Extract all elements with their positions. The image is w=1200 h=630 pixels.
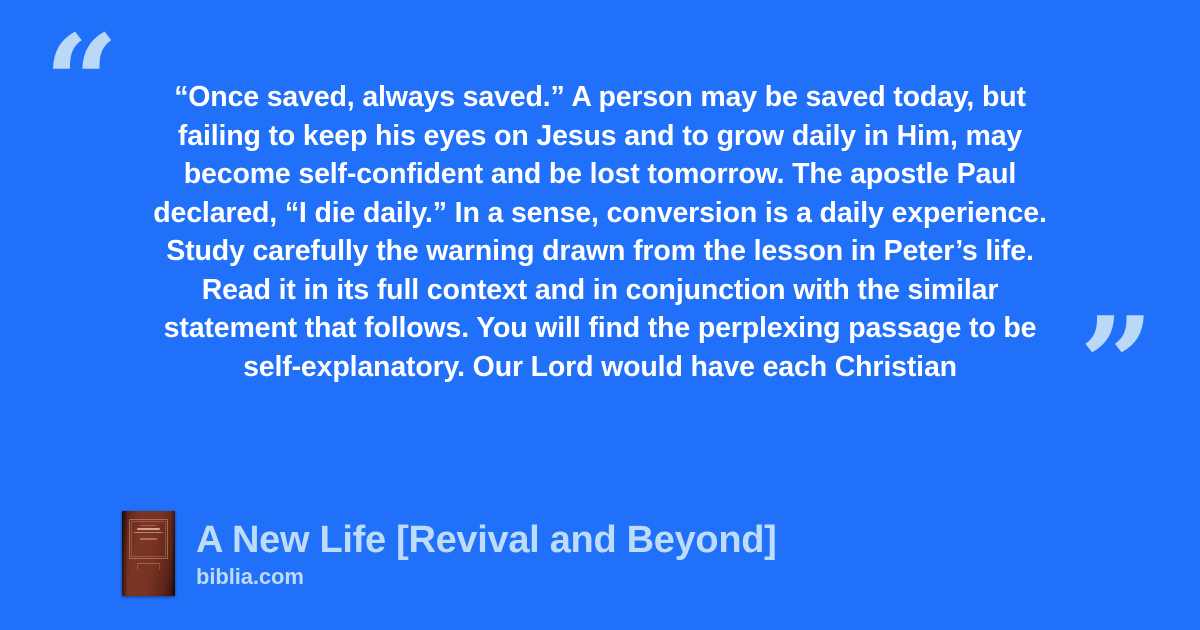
book-cover-title-line: [137, 528, 159, 530]
book-edge-shadow: [171, 511, 175, 596]
book-cover-ornament-bottom: [137, 563, 160, 570]
quote-text: “Once saved, always saved.” A person may…: [100, 78, 1100, 386]
quote-block: “Once saved, always saved.” A person may…: [100, 78, 1100, 386]
book-cover-ornament-top: [141, 521, 156, 526]
footer-attribution: A New Life [Revival and Beyond] biblia.c…: [122, 511, 777, 596]
footer-text-group: A New Life [Revival and Beyond] biblia.c…: [196, 518, 777, 590]
site-name: biblia.com: [196, 564, 777, 590]
book-cover-title-marks: [131, 528, 166, 541]
book-cover-author-line: [140, 538, 156, 540]
quote-card: “ ” “Once saved, always saved.” A person…: [0, 0, 1200, 630]
book-cover-thumbnail: [122, 511, 175, 596]
book-spine-shadow: [122, 511, 127, 596]
book-title: A New Life [Revival and Beyond]: [196, 518, 777, 562]
book-cover-subtitle-line: [134, 532, 163, 534]
